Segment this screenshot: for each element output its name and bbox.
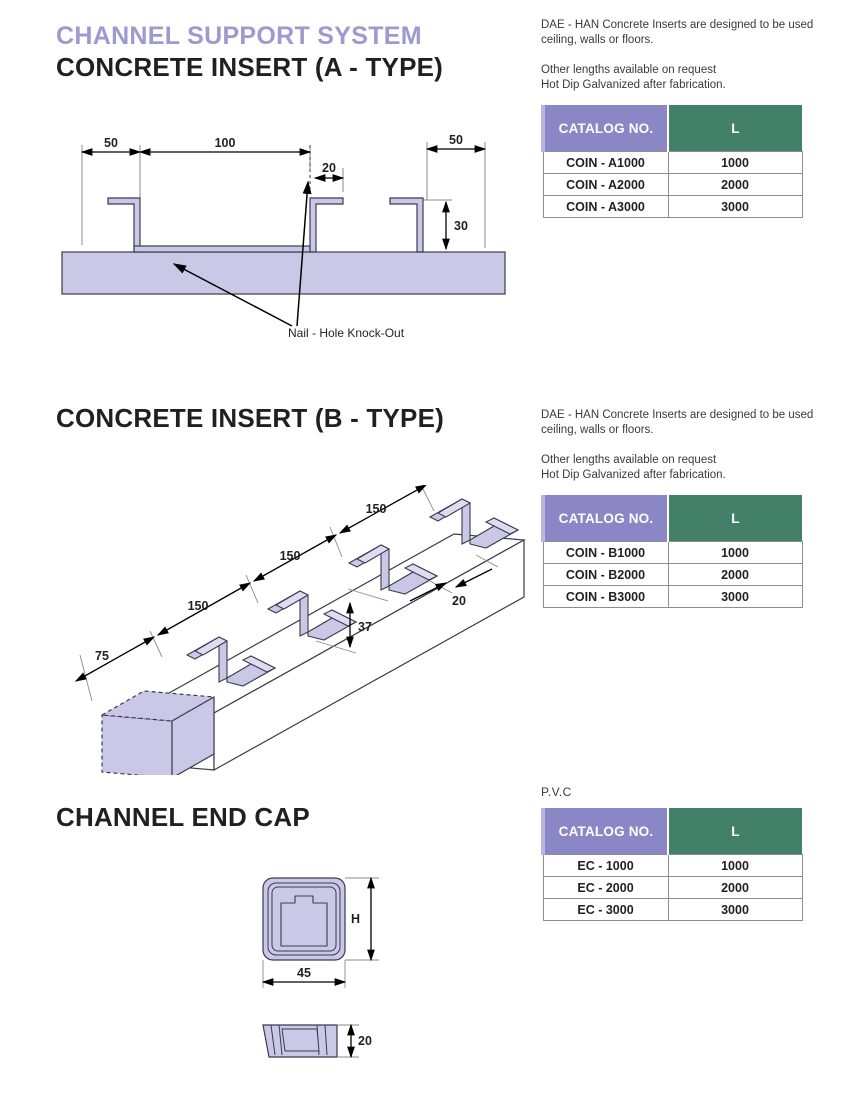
spec-table-channel-end-cap: CATALOG NO. L EC - 1000 1000 EC - 2000 2…	[541, 808, 803, 921]
dim-a-center: 100	[215, 136, 236, 150]
drawing-concrete-insert-a: 50 100 20 50 30	[60, 130, 510, 355]
dim-b-height: 37	[358, 620, 372, 634]
dim-b-pitch-1: 150	[188, 599, 209, 613]
cell-catalog-no: EC - 3000	[543, 899, 668, 921]
column-header-length: L	[668, 808, 802, 855]
datasheet-page: CHANNEL SUPPORT SYSTEM CONCRETE INSERT (…	[0, 0, 850, 1100]
table-row: COIN - B3000 3000	[543, 586, 802, 608]
column-header-catalog-no: CATALOG NO.	[543, 495, 668, 542]
description-concrete-insert-a: DAE - HAN Concrete Inserts are designed …	[541, 18, 826, 93]
table-row: EC - 1000 1000	[543, 855, 802, 877]
table-row: COIN - B1000 1000	[543, 542, 802, 564]
dim-b-pitch-2: 150	[280, 549, 301, 563]
cell-length: 2000	[668, 564, 802, 586]
cell-length: 1000	[668, 152, 802, 174]
material-label-pvc: P.V.C	[541, 785, 572, 799]
dim-a-height: 30	[454, 219, 468, 233]
table-row: COIN - A3000 3000	[543, 196, 802, 218]
table-row: COIN - A2000 2000	[543, 174, 802, 196]
table-row: COIN - B2000 2000	[543, 564, 802, 586]
column-header-catalog-no: CATALOG NO.	[543, 808, 668, 855]
cell-catalog-no: EC - 2000	[543, 877, 668, 899]
dim-a-right: 50	[449, 133, 463, 147]
cell-length: 3000	[668, 899, 802, 921]
table-header-row: CATALOG NO. L	[543, 105, 802, 152]
table-row: EC - 2000 2000	[543, 877, 802, 899]
cell-length: 3000	[668, 196, 802, 218]
table-header-row: CATALOG NO. L	[543, 808, 802, 855]
cell-length: 2000	[668, 174, 802, 196]
column-header-length: L	[668, 105, 802, 152]
description-concrete-insert-b: DAE - HAN Concrete Inserts are designed …	[541, 408, 826, 483]
section-title-concrete-insert-b: CONCRETE INSERT (B - TYPE)	[56, 403, 444, 434]
table-row: EC - 3000 3000	[543, 899, 802, 921]
dim-a-gap: 20	[322, 161, 336, 175]
cell-length: 2000	[668, 877, 802, 899]
section-title-concrete-insert-a: CONCRETE INSERT (A - TYPE)	[56, 52, 443, 83]
dim-b-width: 20	[452, 594, 466, 608]
cell-catalog-no: COIN - B2000	[543, 564, 668, 586]
cell-length: 1000	[668, 855, 802, 877]
dim-endcap-depth: 20	[358, 1034, 372, 1048]
cell-catalog-no: COIN - A1000	[543, 152, 668, 174]
dim-b-pitch-3: 150	[366, 502, 387, 516]
spec-table-concrete-insert-b: CATALOG NO. L COIN - B1000 1000 COIN - B…	[541, 495, 803, 608]
dim-b-end: 75	[95, 649, 109, 663]
cell-length: 1000	[668, 542, 802, 564]
dim-a-left: 50	[104, 136, 118, 150]
column-header-catalog-no: CATALOG NO.	[543, 105, 668, 152]
spec-table-concrete-insert-a: CATALOG NO. L COIN - A1000 1000 COIN - A…	[541, 105, 803, 218]
annotation-nail-hole: Nail - Hole Knock-Out	[288, 326, 405, 340]
brand-title: CHANNEL SUPPORT SYSTEM	[56, 22, 422, 51]
column-header-length: L	[668, 495, 802, 542]
table-header-row: CATALOG NO. L	[543, 495, 802, 542]
drawing-end-cap-side: 20	[255, 1015, 405, 1090]
dim-endcap-width: 45	[297, 966, 311, 980]
cell-catalog-no: COIN - A2000	[543, 174, 668, 196]
cell-catalog-no: COIN - B1000	[543, 542, 668, 564]
section-title-channel-end-cap: CHANNEL END CAP	[56, 802, 310, 833]
cell-catalog-no: COIN - A3000	[543, 196, 668, 218]
drawing-end-cap-front: H 45	[245, 860, 410, 1000]
table-row: COIN - A1000 1000	[543, 152, 802, 174]
cell-catalog-no: COIN - B3000	[543, 586, 668, 608]
cell-length: 3000	[668, 586, 802, 608]
cell-catalog-no: EC - 1000	[543, 855, 668, 877]
dim-endcap-height: H	[351, 912, 360, 926]
drawing-concrete-insert-b: 75 150 150 150 37 20	[58, 485, 538, 780]
